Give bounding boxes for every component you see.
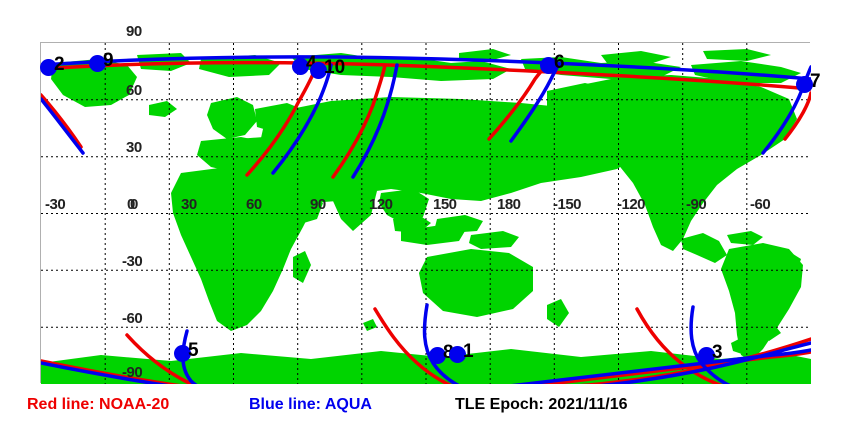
marker-label: 5 xyxy=(188,340,199,362)
lat-tick--60: -60 xyxy=(122,310,142,327)
lon-tick--150: -150 xyxy=(553,196,581,213)
marker-label: 10 xyxy=(324,57,345,79)
lon-tick-60: 60 xyxy=(246,196,262,213)
marker-label: 9 xyxy=(103,50,114,72)
lat-tick--90: -90 xyxy=(122,364,142,381)
lon-tick-90: 90 xyxy=(310,196,326,213)
marker-label: 6 xyxy=(554,52,565,74)
legend-noaa20: Red line: NOAA-20 xyxy=(27,396,169,414)
lat-tick--30: -30 xyxy=(122,253,142,270)
legend-bar: Red line: NOAA-20 Blue line: AQUA TLE Ep… xyxy=(0,392,850,425)
map-canvas xyxy=(41,43,811,384)
lon-tick--60: -60 xyxy=(750,196,770,213)
marker-label: 2 xyxy=(54,54,65,76)
legend-tle-epoch: TLE Epoch: 2021/11/16 xyxy=(455,396,628,414)
lat-tick-60: 60 xyxy=(126,82,142,99)
lon-tick--90: -90 xyxy=(686,196,706,213)
legend-aqua: Blue line: AQUA xyxy=(249,396,372,414)
lon-tick-30: 30 xyxy=(181,196,197,213)
lon-tick--30: -30 xyxy=(45,196,65,213)
lon-tick-180: 180 xyxy=(497,196,521,213)
lat-tick-0: 0 xyxy=(130,196,138,213)
lon-tick--120: -120 xyxy=(617,196,645,213)
lat-tick-30: 30 xyxy=(126,139,142,156)
lat-tick-90: 90 xyxy=(126,23,142,40)
lon-tick-120: 120 xyxy=(369,196,393,213)
marker-label: 3 xyxy=(712,342,723,364)
marker-label: 1 xyxy=(463,341,474,363)
lon-tick-150: 150 xyxy=(433,196,457,213)
marker-label: 7 xyxy=(810,71,821,93)
